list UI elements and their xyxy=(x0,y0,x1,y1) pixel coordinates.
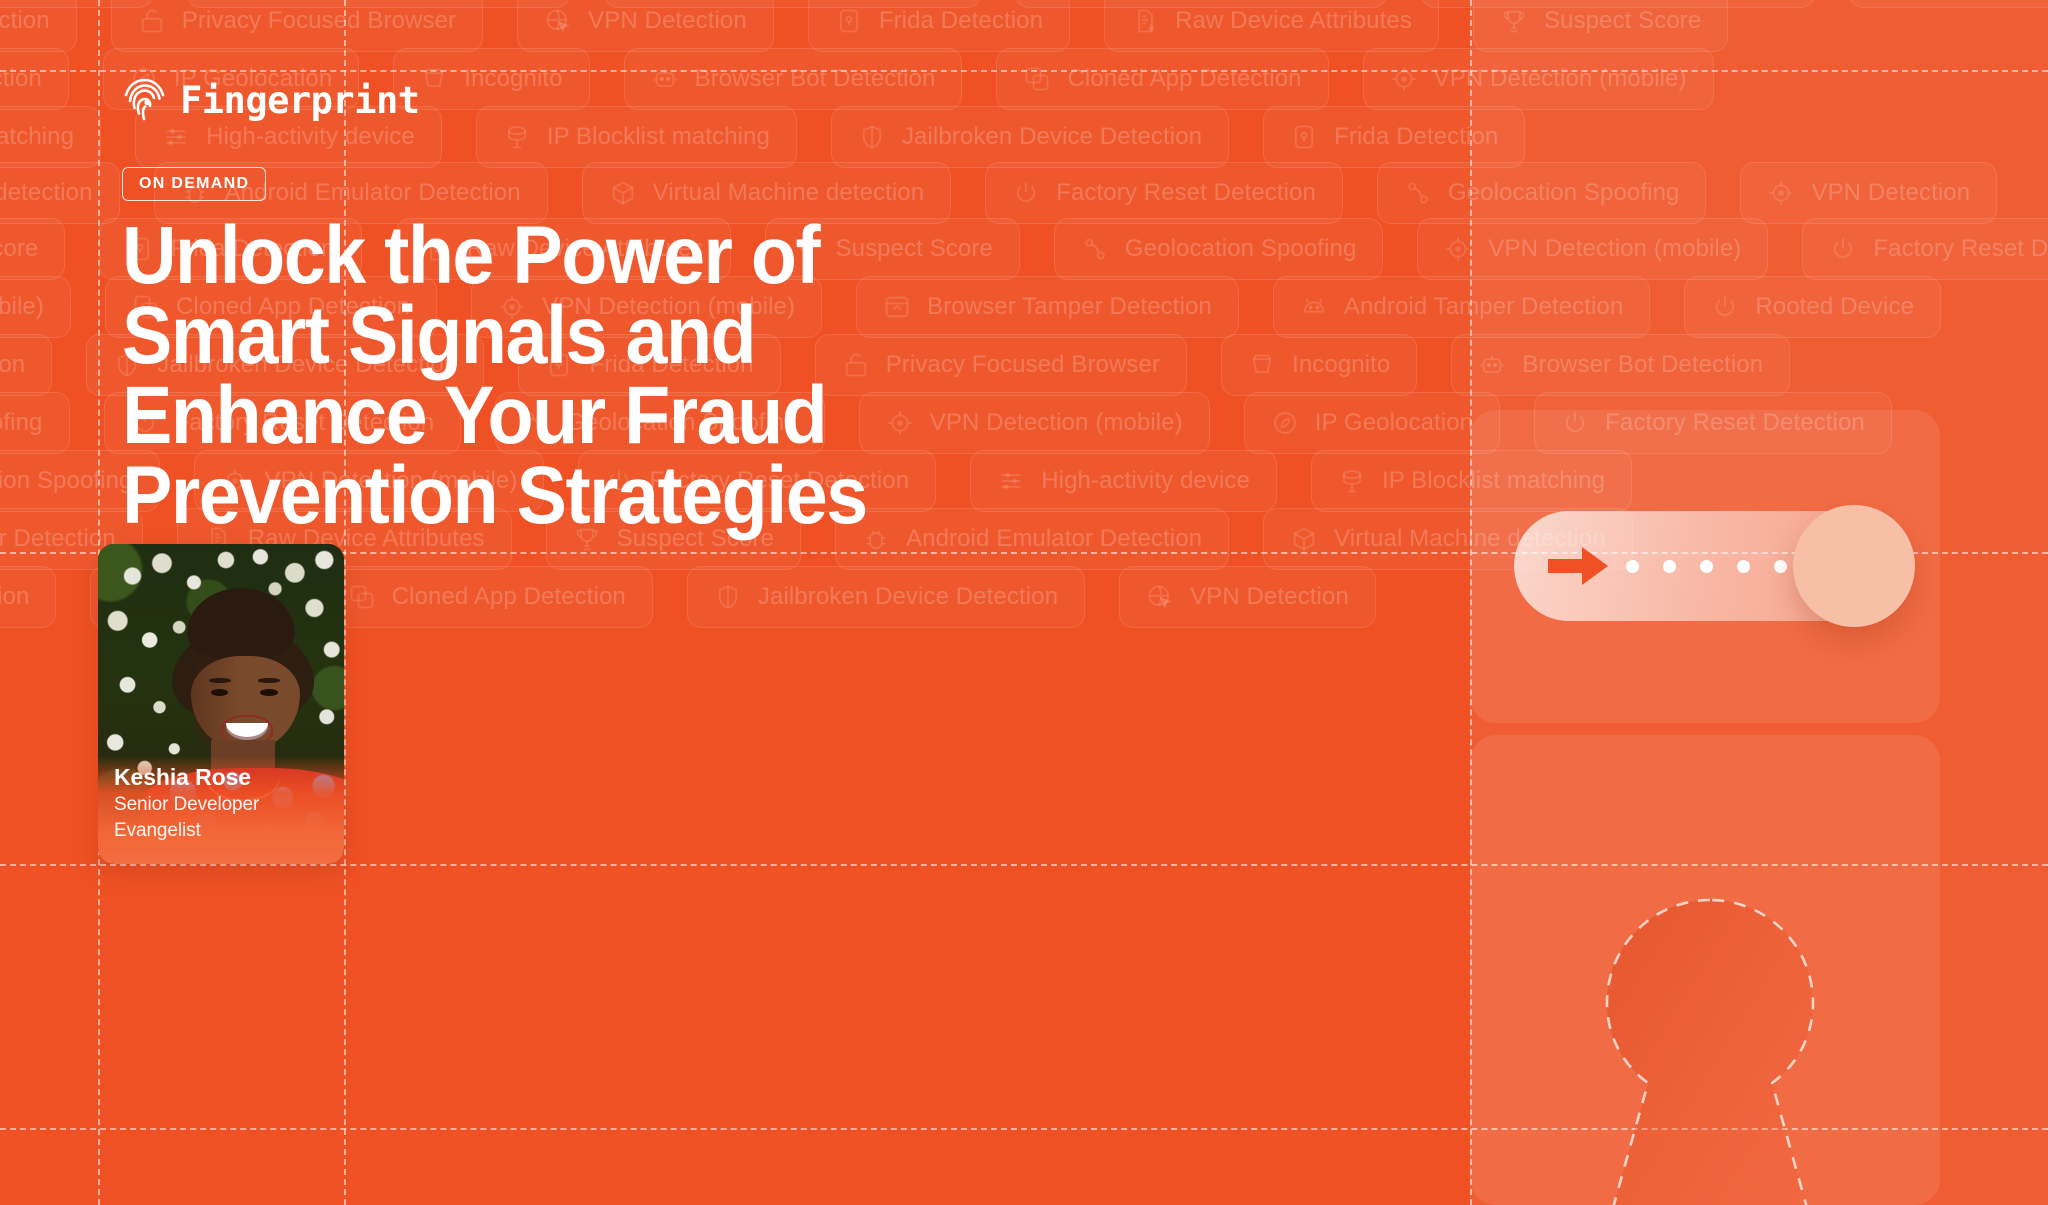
signal-chip-label: Browser Tamper Detection xyxy=(927,293,1212,321)
signal-chip-label: Virtual Machine detection xyxy=(0,179,93,207)
speaker-card: Keshia Rose Senior Developer Evangelist xyxy=(98,544,344,864)
signal-chip: Browser Tamper Detection xyxy=(0,0,153,8)
signal-chip-label: Incognito xyxy=(1292,351,1390,379)
target-icon xyxy=(1444,235,1472,263)
signal-chip: IP Blocklist matching xyxy=(0,106,101,168)
signal-chip: Incognito xyxy=(1221,334,1417,396)
signal-chip: VPN Detection xyxy=(517,0,774,52)
keyhole-icon xyxy=(1560,890,1860,1205)
arrow-right-icon xyxy=(1548,545,1610,587)
mask-icon xyxy=(420,65,448,93)
signal-chip-label: Frida Detection xyxy=(879,7,1043,35)
signal-chip: Jailbroken Device Detection xyxy=(687,566,1085,628)
signal-chip: Virtual Machine detection xyxy=(0,162,120,224)
lock-box-icon xyxy=(835,7,863,35)
signal-chip: Incognito xyxy=(393,48,589,110)
signal-chip: Jailbroken Device Detection xyxy=(831,106,1229,168)
broken-shield-icon xyxy=(714,583,742,611)
signal-chip: High-activity device xyxy=(970,450,1277,512)
signal-chip-label: Android Emulator Detection xyxy=(225,179,521,207)
signal-chip-label: Browser Bot Detection xyxy=(0,65,42,93)
status-badge: ON DEMAND xyxy=(122,167,266,201)
signal-chip: Privacy Focused Browser xyxy=(1015,0,1387,8)
signal-chip: VPN Detection (mobile) xyxy=(0,276,71,338)
signal-chip: IP Blocklist matching xyxy=(476,106,797,168)
signal-chip: Frida Detection xyxy=(808,0,1070,52)
document-download-icon xyxy=(1131,7,1159,35)
brand-name: Fingerprint xyxy=(180,82,420,119)
signal-chip: Frida Detection xyxy=(0,334,52,396)
android-icon xyxy=(1300,293,1328,321)
signal-chip: Cloned App Detection xyxy=(996,48,1328,110)
page-title: Unlock the Power of Smart Signals and En… xyxy=(122,216,968,536)
signal-chip-label: Geolocation Spoofing xyxy=(0,409,43,437)
sliders-icon xyxy=(162,123,190,151)
signal-chip-label: Cloned App Detection xyxy=(392,583,626,611)
lock-open-icon xyxy=(138,7,166,35)
signal-chip-label: Cloned App Detection xyxy=(1067,65,1301,93)
target-icon xyxy=(1390,65,1418,93)
signal-chip-label: Jailbroken Device Detection xyxy=(758,583,1058,611)
guide-line-vertical xyxy=(344,0,346,1205)
signal-chip-label: IP Geolocation xyxy=(1315,409,1473,437)
globe-cursor-icon xyxy=(1146,583,1174,611)
signal-chip-label: High-activity device xyxy=(1041,467,1250,495)
signal-chip-label: Privacy Focused Browser xyxy=(182,7,456,35)
signal-chip-label: Geolocation Spoofing xyxy=(0,467,133,495)
path-spoof-icon xyxy=(1081,235,1109,263)
speaker-info: Keshia Rose Senior Developer Evangelist xyxy=(114,762,344,844)
signal-chip-label: Incognito xyxy=(464,65,562,93)
signal-chip: Factory Reset Detection xyxy=(985,162,1343,224)
signal-chip: IP Geolocation xyxy=(1244,392,1500,454)
signal-chip: Browser Bot Detection xyxy=(0,48,69,110)
signal-chip-label: High-activity device xyxy=(206,123,415,151)
speaker-role: Senior Developer Evangelist xyxy=(114,792,344,844)
signal-chip-label: Factory Reset Detection xyxy=(1056,179,1316,207)
cube-icon xyxy=(1290,525,1318,553)
path-spoof-icon xyxy=(1404,179,1432,207)
signal-chip-label: Jailbroken Device Detection xyxy=(902,123,1202,151)
broken-shield-icon xyxy=(858,123,886,151)
signal-chip: VPN Detection xyxy=(0,0,77,52)
leaf-pin-icon xyxy=(1271,409,1299,437)
signal-chip-label: VPN Detection xyxy=(588,7,747,35)
signal-chip-label: Browser Bot Detection xyxy=(695,65,936,93)
fingerprint-icon xyxy=(122,77,166,123)
signal-chip-label: VPN Detection xyxy=(0,7,50,35)
clone-icon xyxy=(348,583,376,611)
signal-chip-label: IP Blocklist matching xyxy=(547,123,770,151)
signal-chip: VPN Detection xyxy=(1119,566,1376,628)
signal-chip: Browser Bot Detection xyxy=(624,48,963,110)
signal-chip-label: IP Geolocation xyxy=(0,583,29,611)
signal-chip-label: Geolocation Spoofing xyxy=(1125,235,1357,263)
webinar-hero-banner: Browser Tamper DetectionBrowser Tamper D… xyxy=(0,0,2048,1205)
signal-chip: Android Tamper Detection xyxy=(604,0,981,8)
toggle-knob[interactable] xyxy=(1793,505,1915,627)
database-icon xyxy=(1338,467,1366,495)
globe-cursor-icon xyxy=(544,7,572,35)
power-icon xyxy=(1012,179,1040,207)
signal-chip-label: IP Blocklist matching xyxy=(0,123,74,151)
speaker-name: Keshia Rose xyxy=(114,762,344,792)
signal-chip: Privacy Focused Browser xyxy=(111,0,483,52)
signal-chip: Cloned App Detection xyxy=(321,566,653,628)
signal-chip: Raw Device Attributes xyxy=(1104,0,1439,52)
signal-chip: Suspect Score xyxy=(0,218,65,280)
signal-chip: IP Geolocation xyxy=(0,566,56,628)
signal-chip: Geolocation Spoofing xyxy=(0,392,70,454)
signal-chip-label: Raw Device Attributes xyxy=(1175,7,1412,35)
signal-chip-label: Suspect Score xyxy=(0,235,38,263)
sliders-icon xyxy=(997,467,1025,495)
signal-chip-label: Frida Detection xyxy=(0,351,25,379)
clone-icon xyxy=(1023,65,1051,93)
brand-logo[interactable]: Fingerprint xyxy=(122,77,420,123)
database-icon xyxy=(503,123,531,151)
robot-icon xyxy=(651,65,679,93)
cube-icon xyxy=(609,179,637,207)
lock-box-icon xyxy=(1290,123,1318,151)
signal-chip-label: VPN Detection (mobile) xyxy=(0,293,44,321)
signal-chip: Geolocation Spoofing xyxy=(1054,218,1384,280)
mask-icon xyxy=(1248,351,1276,379)
signal-chip: Browser Tamper Detection xyxy=(187,0,570,8)
signal-chip-label: VPN Detection xyxy=(1190,583,1349,611)
signal-chip-label: Virtual Machine detection xyxy=(653,179,925,207)
